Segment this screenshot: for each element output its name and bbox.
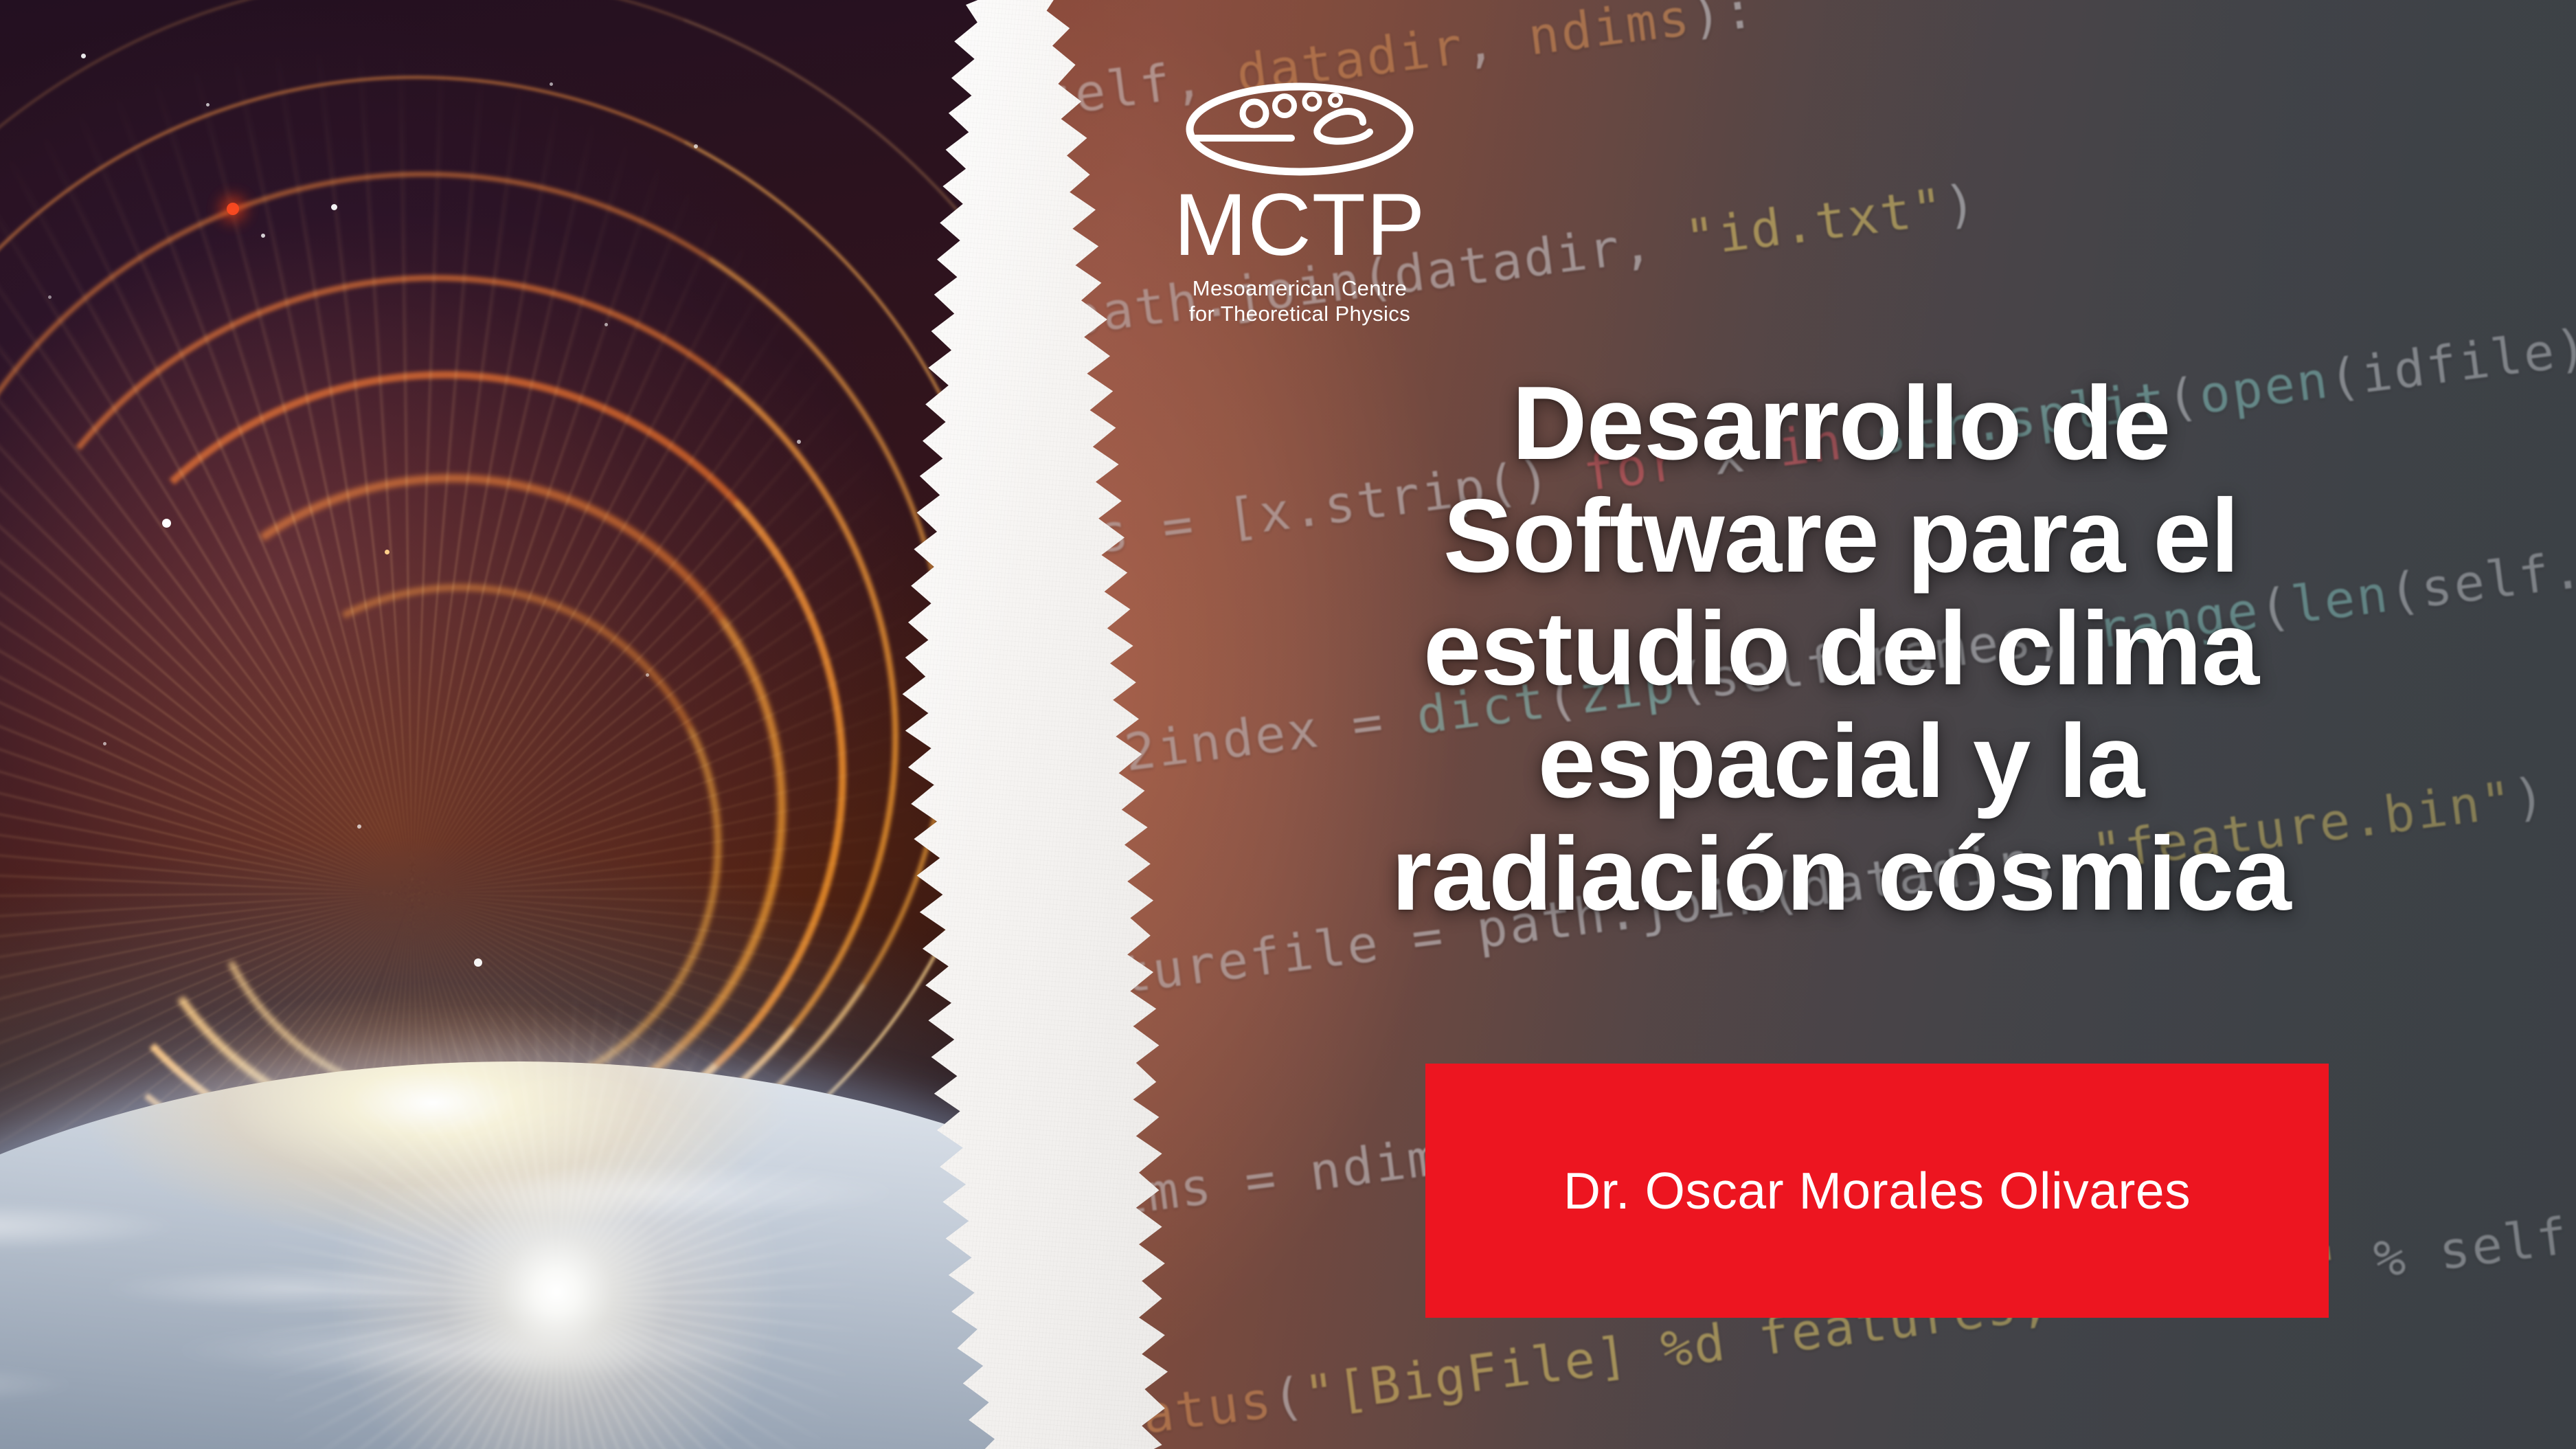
logo-subtitle-line-1: Mesoamerican Centre <box>1193 276 1408 300</box>
logo-subtitle-line-2: for Theoretical Physics <box>1189 302 1410 326</box>
title-line-5: radiación cósmica <box>1250 818 2432 930</box>
title-line-3: estudio del clima <box>1250 592 2432 705</box>
speaker-banner: Dr. Oscar Morales Olivares <box>1425 1064 2329 1318</box>
page-title: Desarrollo de Software para el estudio d… <box>1250 367 2432 931</box>
logo-wordmark: MCTP <box>1149 181 1451 269</box>
title-line-1: Desarrollo de <box>1250 367 2432 480</box>
logo-subtitle: Mesoamerican Centre for Theoretical Phys… <box>1149 276 1451 326</box>
presentation-title-slide: def __init__(self, datadir, ndims): idfi… <box>0 0 2576 1449</box>
mctp-logo: MCTP Mesoamerican Centre for Theoretical… <box>1149 81 1451 308</box>
title-line-2: Software para el <box>1250 480 2432 592</box>
sun-flare <box>247 982 866 1449</box>
mctp-eye-logo-icon <box>1183 81 1416 177</box>
title-line-4: espacial y la <box>1250 705 2432 818</box>
cosmic-space-image <box>0 0 1010 1449</box>
speaker-name: Dr. Oscar Morales Olivares <box>1563 1161 2191 1220</box>
